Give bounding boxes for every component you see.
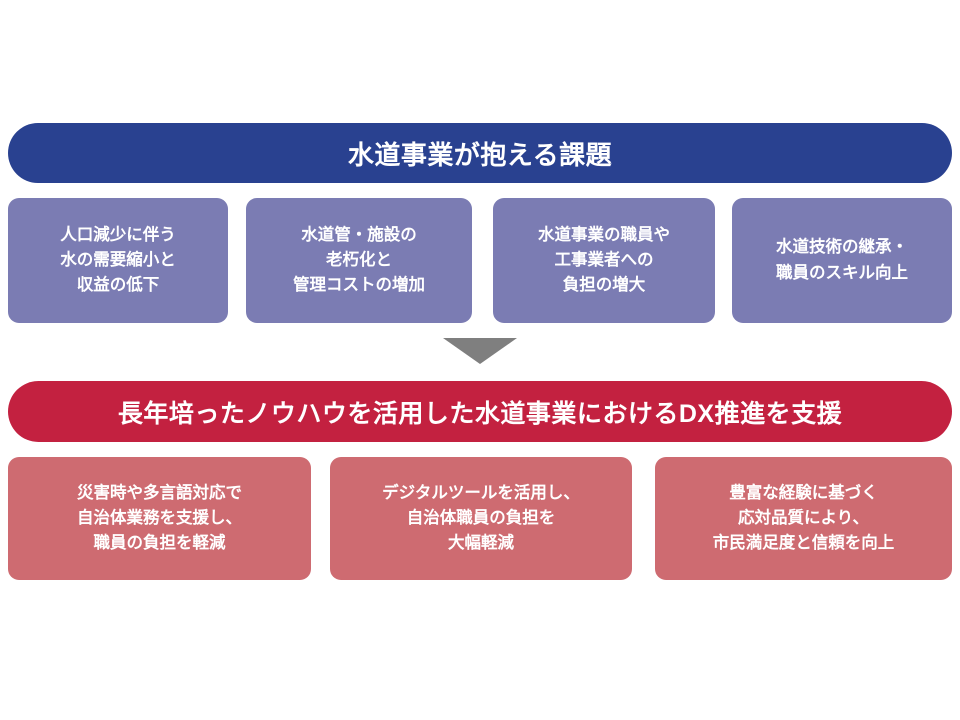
- solution-card-3-line-2: 応対品質により、: [713, 506, 895, 531]
- problem-card-3: 水道事業の職員や 工事業者への 負担の増大: [493, 198, 715, 323]
- solution-card-1-line-3: 職員の負担を軽減: [77, 531, 242, 556]
- problem-card-4-text: 水道技術の継承・ 職員のスキル向上: [768, 235, 916, 285]
- solution-card-2-line-2: 自治体職員の負担を: [382, 506, 580, 531]
- solution-card-2-text: デジタルツールを活用し、 自治体職員の負担を 大幅軽減: [374, 481, 588, 556]
- solution-card-1-text: 災害時や多言語対応で 自治体業務を支援し、 職員の負担を軽減: [69, 481, 250, 556]
- triangle-down-icon: [443, 338, 517, 364]
- problem-card-3-line-2: 工事業者への: [538, 248, 670, 273]
- solution-banner: 長年培ったノウハウを活用した水道事業におけるDX推進を支援: [8, 381, 952, 442]
- problem-card-2-text: 水道管・施設の 老朽化と 管理コストの増加: [285, 223, 433, 298]
- solution-card-3-line-3: 市民満足度と信頼を向上: [713, 531, 895, 556]
- problem-card-2-line-1: 水道管・施設の: [293, 223, 425, 248]
- problem-card-2-line-3: 管理コストの増加: [293, 273, 425, 298]
- solution-card-2: デジタルツールを活用し、 自治体職員の負担を 大幅軽減: [330, 457, 632, 580]
- problem-card-2: 水道管・施設の 老朽化と 管理コストの増加: [246, 198, 472, 323]
- problem-card-3-line-3: 負担の増大: [538, 273, 670, 298]
- solution-card-1-line-1: 災害時や多言語対応で: [77, 481, 242, 506]
- problem-card-1-line-2: 水の需要縮小と: [60, 248, 176, 273]
- solution-card-3-text: 豊富な経験に基づく 応対品質により、 市民満足度と信頼を向上: [705, 481, 903, 556]
- diagram-slide: 水道事業が抱える課題 人口減少に伴う 水の需要縮小と 収益の低下 水道管・施設の…: [0, 0, 960, 720]
- solution-card-2-line-1: デジタルツールを活用し、: [382, 481, 580, 506]
- solution-card-3: 豊富な経験に基づく 応対品質により、 市民満足度と信頼を向上: [655, 457, 952, 580]
- solution-card-1: 災害時や多言語対応で 自治体業務を支援し、 職員の負担を軽減: [8, 457, 311, 580]
- solution-card-3-line-1: 豊富な経験に基づく: [713, 481, 895, 506]
- problem-card-4: 水道技術の継承・ 職員のスキル向上: [732, 198, 952, 323]
- problem-card-2-line-2: 老朽化と: [293, 248, 425, 273]
- problem-card-3-text: 水道事業の職員や 工事業者への 負担の増大: [530, 223, 678, 298]
- problem-card-1-text: 人口減少に伴う 水の需要縮小と 収益の低下: [52, 223, 184, 298]
- problem-card-1-line-3: 収益の低下: [60, 273, 176, 298]
- solution-card-1-line-2: 自治体業務を支援し、: [77, 506, 242, 531]
- solution-banner-title: 長年培ったノウハウを活用した水道事業におけるDX推進を支援: [118, 394, 842, 430]
- problem-card-3-line-1: 水道事業の職員や: [538, 223, 670, 248]
- problem-card-4-line-2: 職員のスキル向上: [776, 261, 908, 286]
- problem-card-4-line-1: 水道技術の継承・: [776, 235, 908, 260]
- problem-banner-title: 水道事業が抱える課題: [348, 135, 612, 172]
- problem-card-1-line-1: 人口減少に伴う: [60, 223, 176, 248]
- problem-banner: 水道事業が抱える課題: [8, 123, 952, 183]
- solution-card-2-line-3: 大幅軽減: [382, 531, 580, 556]
- problem-card-1: 人口減少に伴う 水の需要縮小と 収益の低下: [8, 198, 228, 323]
